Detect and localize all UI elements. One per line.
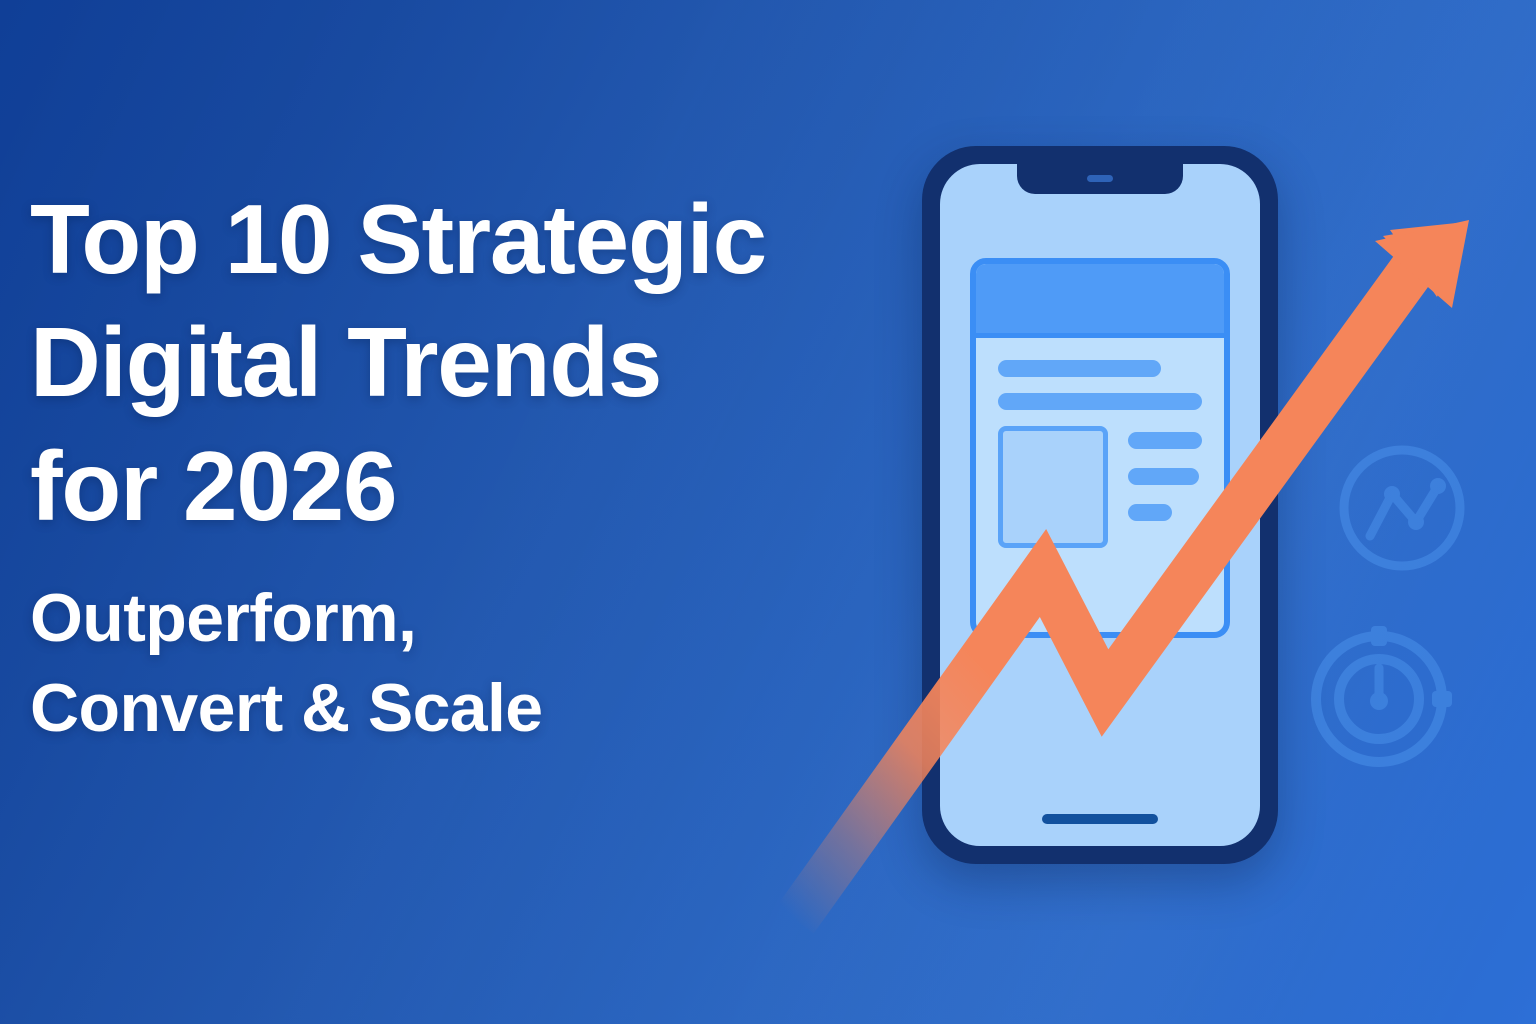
wireframe-body bbox=[976, 338, 1224, 548]
wireframe-split-row bbox=[998, 426, 1202, 548]
wireframe-side-line-2 bbox=[1128, 468, 1199, 485]
wireframe-side-line-3 bbox=[1128, 504, 1172, 521]
phone-mockup bbox=[922, 146, 1278, 864]
wireframe-line-2 bbox=[998, 393, 1202, 410]
stopwatch-icon bbox=[1300, 620, 1458, 778]
poster-canvas: Top 10 Strategic Digital Trends for 2026… bbox=[0, 0, 1536, 1024]
phone-notch bbox=[1017, 164, 1183, 194]
speaker-pill-icon bbox=[1087, 175, 1113, 182]
wireframe-line-1 bbox=[998, 360, 1161, 377]
home-indicator bbox=[1042, 814, 1158, 824]
page-subtitle: Outperform, Convert & Scale bbox=[30, 574, 910, 754]
wireframe-card bbox=[970, 258, 1230, 638]
line-chart-badge bbox=[1334, 440, 1470, 581]
wireframe-side-line-1 bbox=[1128, 432, 1202, 449]
wireframe-header-bar bbox=[976, 264, 1224, 338]
phone-screen bbox=[940, 164, 1260, 846]
text-block: Top 10 Strategic Digital Trends for 2026… bbox=[30, 178, 910, 754]
stopwatch-target-badge bbox=[1300, 620, 1458, 783]
page-title: Top 10 Strategic Digital Trends for 2026 bbox=[30, 178, 910, 548]
wireframe-thumbnail bbox=[998, 426, 1108, 548]
wireframe-side-lines bbox=[1128, 426, 1202, 548]
line-chart-icon bbox=[1334, 440, 1470, 576]
